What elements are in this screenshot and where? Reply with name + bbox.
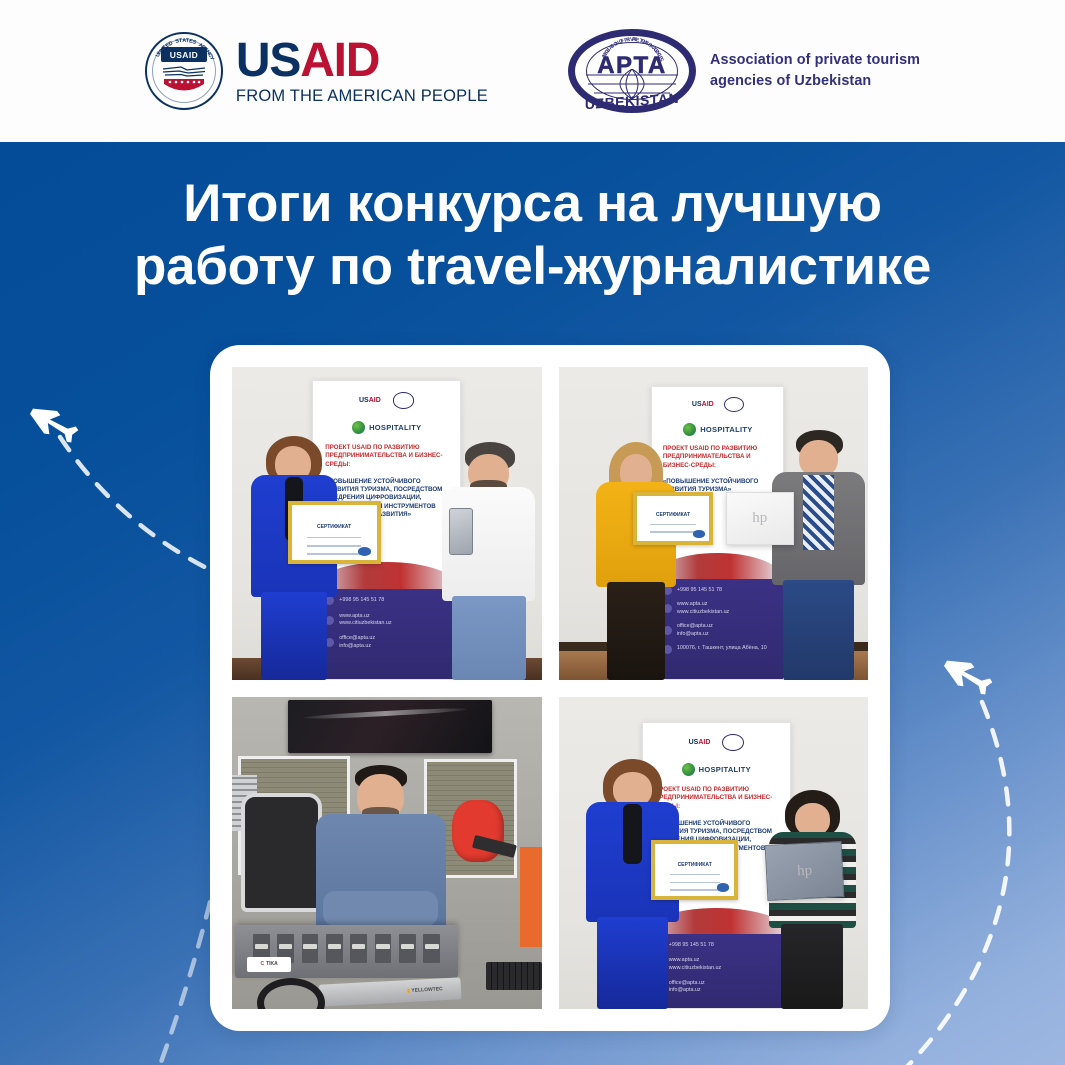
apta-description-line2: agencies of Uzbekistan (710, 71, 920, 92)
photo-2-address: 100076, г. Ташкент, улица Абёна, 10 (677, 645, 767, 653)
photo-2-banner-apta-icon (724, 397, 744, 412)
usaid-logo: UNITED STATES AGENCY USAID USAID FROM TH… (145, 32, 488, 110)
photo-3-presenter (316, 765, 446, 940)
photo-4-banner-apta-icon (722, 734, 744, 751)
photo-2[interactable]: USAID HOSPITALITY ПРОЕКТ USAID ПО РАЗВИТ… (559, 367, 869, 680)
photo-1-site1: www.apta.uz (339, 613, 391, 621)
flight-path-bottom-left (160, 902, 210, 1065)
apta-description: Association of private tourism agencies … (710, 50, 920, 92)
photo-2-phone: +998 95 145 51 78 (677, 587, 722, 595)
photo-3-keyboard (486, 962, 542, 990)
usaid-seal-icon: UNITED STATES AGENCY USAID (145, 32, 223, 110)
page-title: Итоги конкурса на лучшую работу по trave… (0, 173, 1065, 298)
photo-2-certificate: СЕРТИФИКАТ (633, 492, 713, 545)
photo-2-hospitality-globe-icon (683, 423, 696, 436)
photo-1-smartphone (449, 508, 474, 555)
usaid-shield-icon (164, 79, 204, 95)
photo-4-certificate: СЕРТИФИКАТ (651, 840, 738, 899)
photo-1-hospitality-text: HOSPITALITY (369, 423, 421, 432)
page-title-line1: Итоги конкурса на лучшую (183, 174, 881, 233)
photo-3-office-chair (241, 793, 321, 912)
photo-3[interactable]: CTIKA ▮ YELLOWTEC (232, 697, 542, 1010)
photo-4-laptop: hp (764, 841, 844, 901)
photo-4-hospitality-globe-icon (682, 763, 695, 776)
photo-1-email2: info@apta.uz (339, 643, 375, 651)
photo-2-email2: info@apta.uz (677, 631, 713, 639)
apta-oval-icon: ASSOCIATION OF PRIVATE TOURISM AGENCIES … (568, 29, 696, 113)
airplane-left-icon (25, 400, 81, 448)
photo-1-email1: office@apta.uz (339, 635, 375, 643)
photo-1-banner-apta-icon (393, 392, 415, 409)
page-title-line2: работу по travel-журналистике (0, 236, 1065, 299)
photo-2-site1: www.apta.uz (677, 601, 729, 609)
photo-1-phone: +998 95 145 51 78 (339, 597, 384, 605)
usaid-word-us: US (236, 34, 300, 87)
usaid-tagline: FROM THE AMERICAN PEOPLE (236, 88, 488, 105)
photo-2-email1: office@apta.uz (677, 623, 713, 631)
apta-logo: ASSOCIATION OF PRIVATE TOURISM AGENCIES … (568, 29, 920, 113)
airplane-right-icon (939, 652, 995, 700)
photo-4[interactable]: USAID HOSPITALITY ПРОЕКТ USAID ПО РАЗВИТ… (559, 697, 869, 1010)
header-logo-band: UNITED STATES AGENCY USAID USAID FROM TH… (0, 0, 1065, 142)
photo-2-site2: www.citiuzbekistan.uz (677, 609, 729, 617)
photo-2-certificate-title: СЕРТИФИКАТ (637, 512, 709, 518)
photo-3-wall-tv (288, 700, 492, 753)
photo-1-person-right (442, 442, 535, 680)
photo-3-tika-label: CTIKA (247, 957, 290, 971)
photo-1-certificate-title: СЕРТИФИКАТ (292, 524, 377, 530)
photo-3-orange-panel (520, 847, 542, 947)
photo-1-hospitality-globe-icon (352, 421, 365, 434)
photo-grid: USAID HOSPITALITY ПРОЕКТ USAID ПО РАЗВИТ… (232, 367, 868, 1009)
photo-1-certificate: СЕРТИФИКАТ (288, 501, 381, 564)
usaid-wordmark: USAID FROM THE AMERICAN PEOPLE (236, 37, 488, 105)
usaid-seal-label: USAID (161, 47, 207, 62)
usaid-word-aid: AID (300, 34, 379, 87)
photo-2-person-left (596, 442, 676, 680)
photo-collage-card: USAID HOSPITALITY ПРОЕКТ USAID ПО РАЗВИТ… (210, 345, 890, 1031)
photo-1-site2: www.citiuzbekistan.uz (339, 620, 391, 628)
apta-description-line1: Association of private tourism (710, 50, 920, 71)
photo-2-person-right (772, 430, 865, 680)
photo-1-banner-usaid: USAID (359, 397, 381, 404)
handshake-icon (161, 65, 207, 78)
photo-2-laptop-box: hp (726, 492, 794, 545)
photo-1[interactable]: USAID HOSPITALITY ПРОЕКТ USAID ПО РАЗВИТ… (232, 367, 542, 680)
photo-4-certificate-title: СЕРТИФИКАТ (655, 862, 734, 868)
